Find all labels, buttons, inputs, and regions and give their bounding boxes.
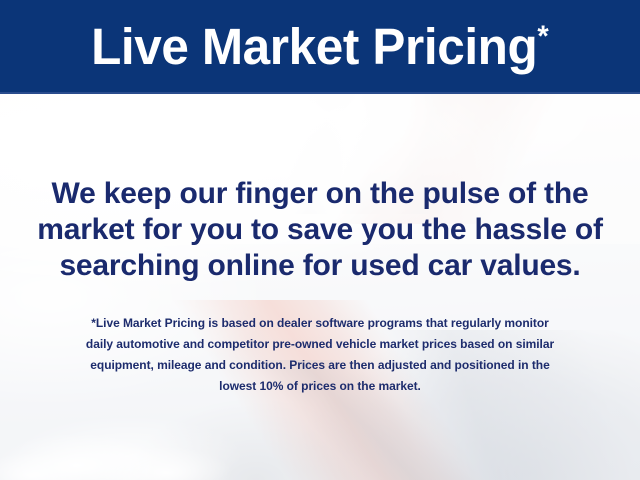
message-line: market for you to save you the hassle of xyxy=(0,212,640,248)
header-band: Live Market Pricing* xyxy=(0,0,640,94)
message-line: searching online for used car values. xyxy=(0,248,640,284)
disclaimer-line: lowest 10% of prices on the market. xyxy=(0,376,640,397)
live-market-pricing-banner: Live Market Pricing* We keep our finger … xyxy=(0,0,640,480)
disclaimer-line: *Live Market Pricing is based on dealer … xyxy=(0,313,640,334)
disclaimer-line: daily automotive and competitor pre-owne… xyxy=(0,334,640,355)
footnote-marker: * xyxy=(538,20,549,53)
page-title: Live Market Pricing* xyxy=(91,21,548,72)
disclaimer-text: *Live Market Pricing is based on dealer … xyxy=(0,313,640,397)
marketing-message: We keep our finger on the pulse of the m… xyxy=(0,176,640,284)
disclaimer-line: equipment, mileage and condition. Prices… xyxy=(0,355,640,376)
message-line: We keep our finger on the pulse of the xyxy=(0,176,640,212)
page-title-text: Live Market Pricing xyxy=(91,18,537,75)
